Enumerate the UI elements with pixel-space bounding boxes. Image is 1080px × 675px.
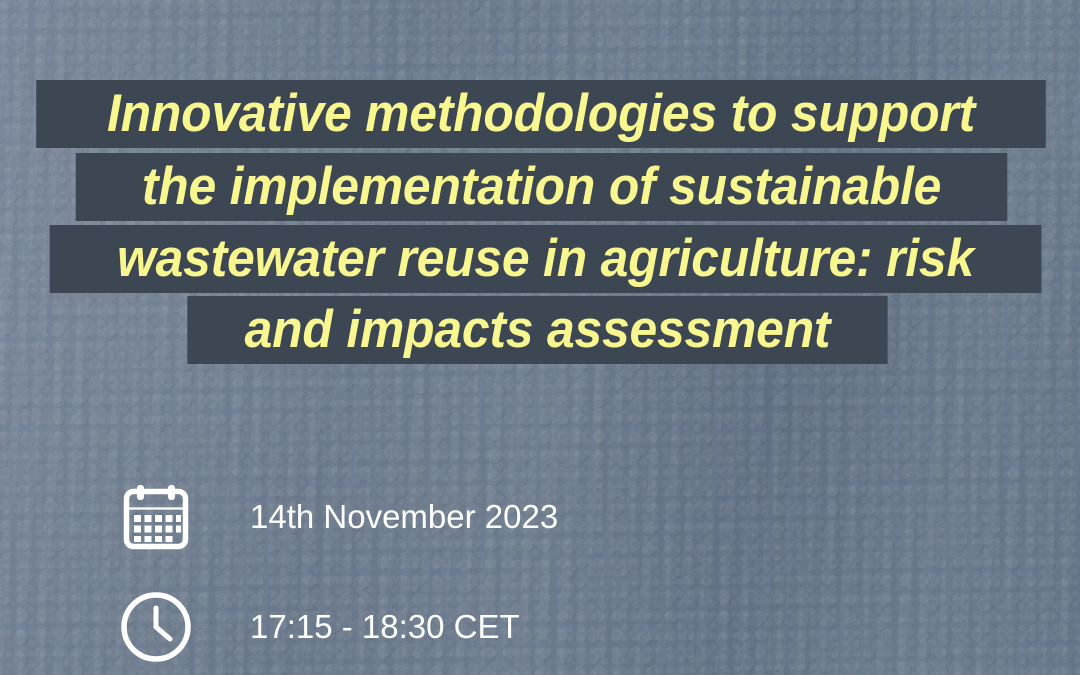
event-time-row: 17:15 - 18:30 CET bbox=[118, 572, 558, 675]
title-line-2: the implementation of sustainable bbox=[76, 153, 1008, 221]
event-details: 14th November 2023 17:15 - 18:30 CET bbox=[118, 462, 558, 675]
title-line-1: Innovative methodologies to support bbox=[36, 80, 1046, 148]
title-line-4: and impacts assessment bbox=[187, 296, 887, 364]
event-time-label: 17:15 - 18:30 CET bbox=[250, 608, 520, 646]
event-date-row: 14th November 2023 bbox=[118, 462, 558, 572]
title-line-3: wastewater reuse in agriculture: risk bbox=[50, 225, 1042, 293]
clock-icon bbox=[118, 589, 194, 665]
event-date-label: 14th November 2023 bbox=[250, 498, 558, 536]
calendar-icon bbox=[118, 479, 194, 555]
webinar-banner-slide: Innovative methodologies to support the … bbox=[0, 0, 1080, 675]
